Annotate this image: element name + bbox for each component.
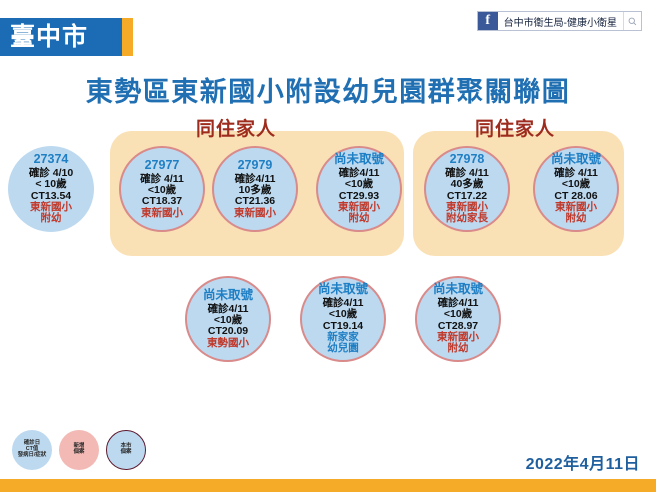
case-age: 40多歲 [451,179,484,190]
case-id: 27978 [450,153,485,167]
case-node[interactable]: 尚未取號 確診4/11 <10歲 CT20.09 東勢國小 [185,276,271,362]
city-banner: 臺中市 [0,18,122,56]
case-age: <10歲 [329,309,357,320]
case-id: 尚未取號 [433,283,483,297]
banner-accent-bar [122,18,133,56]
facebook-badge[interactable]: f 台中市衛生局-健康小衛星 [477,11,642,31]
case-node[interactable]: 27374 確診 4/10 < 10歲 CT13.54 東新國小 附幼 [8,146,94,232]
case-place-line2: 幼兒園 [327,343,359,354]
search-icon[interactable] [623,12,641,30]
case-node[interactable]: 尚未取號 確診4/11 <10歲 CT29.93 東新國小 附幼 [316,146,402,232]
case-ct-value: CT18.37 [142,196,182,207]
city-label: 臺中市 [10,25,88,50]
case-node[interactable]: 27979 確診4/11 10多歲 CT21.36 東新國小 [212,146,298,232]
legend-line-3: 發病日/症狀 [18,453,46,459]
case-id: 尚未取號 [318,283,368,297]
legend-item-case-info: 確診日 CT值 發病日/症狀 [12,430,52,470]
case-age: <10歲 [562,179,590,190]
case-node[interactable]: 27978 確診 4/11 40多歲 CT17.22 東新國小 附幼家長 [424,146,510,232]
case-place-line1: 東勢國小 [207,338,249,349]
group-label-left: 同住家人 [196,114,276,141]
facebook-page-name: 台中市衛生局-健康小衛星 [498,12,623,30]
case-ct-value: CT21.36 [235,196,275,207]
footer-accent-bar [0,479,656,492]
case-place-line1: 東新國小 [141,208,183,219]
legend-line-2: 個案 [74,450,85,456]
group-label-right: 同住家人 [475,114,555,141]
case-id: 尚未取號 [551,153,601,167]
case-age: <10歲 [345,179,373,190]
case-place-line2: 附幼 [349,213,370,224]
case-place-line2: 附幼 [448,343,469,354]
case-ct-value: CT20.09 [208,326,248,337]
case-node[interactable]: 尚未取號 確診4/11 <10歲 CT19.14 新家家 幼兒園 [300,276,386,362]
case-place-line2: 附幼 [566,213,587,224]
case-place-line1: 東新國小 [234,208,276,219]
legend-item-new-case: 新增 個案 [59,430,99,470]
case-id: 尚未取號 [203,289,253,303]
facebook-f-icon: f [478,12,498,30]
page-title: 東勢區東新國小附設幼兒園群聚關聯圖 [0,70,656,109]
legend-line-2: 個案 [121,450,132,456]
case-node[interactable]: 27977 確診 4/11 <10歲 CT18.37 東新國小 [119,146,205,232]
case-id: 27374 [34,153,69,167]
case-age: < 10歲 [35,179,66,190]
legend-item-local-case: 本市 個案 [106,430,146,470]
case-place-line2: 附幼 [41,213,62,224]
case-id: 尚未取號 [334,153,384,167]
case-id: 27977 [145,159,180,173]
case-id: 27979 [238,159,273,173]
legend: 確診日 CT值 發病日/症狀 新增 個案 本市 個案 [12,430,146,470]
case-node[interactable]: 尚未取號 確診4/11 <10歲 CT28.97 東新國小 附幼 [415,276,501,362]
poster-root: 臺中市 f 台中市衛生局-健康小衛星 東勢區東新國小附設幼兒園群聚關聯圖 同住家… [0,0,656,492]
case-age: <10歲 [444,309,472,320]
case-place-line2: 附幼家長 [446,213,488,224]
report-date: 2022年4月11日 [526,450,640,474]
case-node[interactable]: 尚未取號 確診 4/11 <10歲 CT 28.06 東新國小 附幼 [533,146,619,232]
